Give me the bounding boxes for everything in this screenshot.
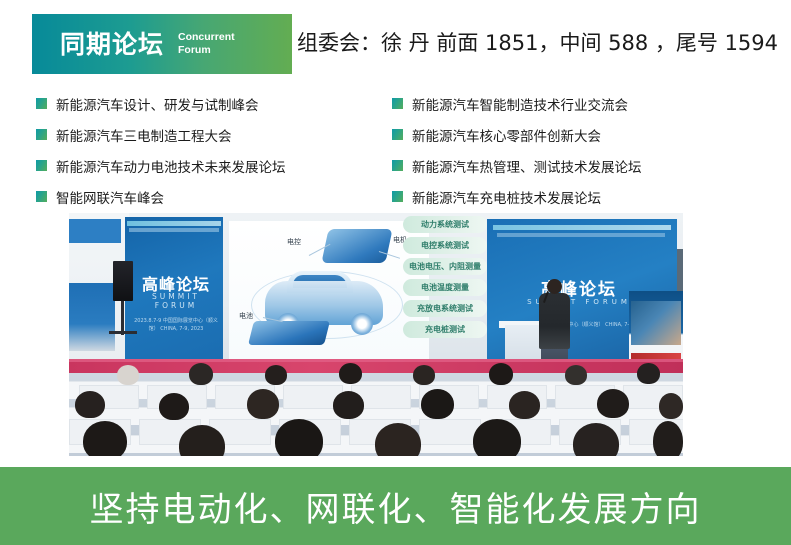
test-item-pill: 电控系统测试 [403,237,487,254]
diagram-label-controller: 电控 [287,237,301,247]
test-item-pill: 充电桩测试 [403,321,487,338]
forum-list-item: 新能源汽车核心零部件创新大会 [392,119,692,150]
loudspeaker-stand [121,301,124,335]
audience-head [189,363,213,385]
audience-head [265,365,287,385]
forum-list-item: 智能网联汽车峰会 [36,181,376,212]
forum-item-label: 新能源汽车核心零部件创新大会 [412,125,601,145]
stage-banner-left-subline-bar [129,228,219,232]
loudspeaker-legs [109,331,137,334]
stage-banner-right-headline-bar [493,225,671,230]
stage-banner-right-subline-bar [497,233,665,237]
bullet-square-icon [392,160,403,171]
forum-list-item: 新能源汽车动力电池技术未来发展论坛 [36,150,376,181]
chair-back [419,419,481,445]
header-subtitle-line2: Forum [178,44,235,57]
forum-list-item: 新能源汽车三电制造工程大会 [36,119,376,150]
audience-head [653,421,683,456]
audience-head [333,391,364,419]
test-item-list: 动力系统测试 电控系统测试 电池电压、内阻测量 电池温度测量 充放电系统测试 充… [403,216,487,342]
footer-banner: 坚持电动化、网联化、智能化发展方向 [0,467,791,545]
footer-slogan: 坚持电动化、网联化、智能化发展方向 [90,482,702,531]
slide-canvas: 同期论坛 Concurrent Forum 组委会：徐 丹 前面 1851，中间… [0,0,791,545]
bullet-square-icon [36,160,47,171]
header-banner-subtitle: Concurrent Forum [178,31,235,57]
presenter-head [547,279,562,294]
audience-head [159,393,189,420]
audience-head [413,365,435,385]
forum-list-left: 新能源汽车设计、研发与试制峰会 新能源汽车三电制造工程大会 新能源汽车动力电池技… [36,88,376,212]
forum-item-label: 新能源汽车智能制造技术行业交流会 [412,94,628,114]
forum-item-label: 新能源汽车充电桩技术发展论坛 [412,187,601,207]
car-wheel-rear [351,313,373,335]
bullet-square-icon [36,129,47,140]
left-booth-blue-band [69,219,121,243]
forum-list-item: 新能源汽车热管理、测试技术发展论坛 [392,150,692,181]
audience-head [473,419,521,456]
test-item-pill: 电池电压、内阻测量 [403,258,487,275]
test-item-pill: 充放电系统测试 [403,300,487,317]
test-item-pill: 电池温度测量 [403,279,487,296]
stage-banner-left-subtitle: SUMMIT FORUM [131,292,221,310]
rollup-banner-image [631,301,681,345]
audience-head [659,393,683,419]
header-banner: 同期论坛 Concurrent Forum [32,14,292,74]
organizer-contact-line: 组委会：徐 丹 前面 1851，中间 588 ，尾号 1594 [297,27,778,57]
audience-head [83,421,127,456]
audience-head [421,389,454,419]
bullet-square-icon [392,191,403,202]
stage-front-highlight [69,359,683,362]
audience-head [339,363,362,384]
bullet-square-icon [392,98,403,109]
audience-head [637,363,660,384]
left-booth-poster [69,283,115,351]
audience-head [275,419,323,456]
forum-item-label: 新能源汽车动力电池技术未来发展论坛 [56,156,286,176]
forum-item-label: 新能源汽车热管理、测试技术发展论坛 [412,156,642,176]
diagram-label-battery: 电池 [239,311,253,321]
forum-list-item: 新能源汽车充电桩技术发展论坛 [392,181,692,212]
bullet-square-icon [36,191,47,202]
audience-head [509,391,540,419]
forum-list-item: 新能源汽车设计、研发与试制峰会 [36,88,376,119]
battery-pack-component [248,321,330,345]
audience-head [565,365,587,385]
loudspeaker [113,261,133,301]
audience-head [117,365,139,385]
forum-item-label: 新能源汽车设计、研发与试制峰会 [56,94,259,114]
audience-head [75,391,105,418]
bullet-square-icon [36,98,47,109]
stage-banner-left-date: 2023.8.7-9 中国国际展览中心（顺义馆） CHINA, 7-9, 202… [131,318,221,333]
forum-item-label: 智能网联汽车峰会 [56,187,164,207]
forum-list-item: 新能源汽车智能制造技术行业交流会 [392,88,692,119]
test-item-pill: 动力系统测试 [403,216,487,233]
motor-component [321,229,392,263]
audience-head [247,389,279,419]
stage-banner-left-headline-bar [127,221,221,226]
bullet-square-icon [392,129,403,140]
conference-photo: 高峰论坛 SUMMIT FORUM 2023.8.7-9 中国国际展览中心（顺义… [69,213,683,456]
audience-head [597,389,629,418]
header-banner-title: 同期论坛 [60,32,164,57]
forum-item-label: 新能源汽车三电制造工程大会 [56,125,232,145]
audience-head [489,363,513,385]
ev-diagram-panel: 电机 电控 电池 [229,221,429,361]
forum-list-right: 新能源汽车智能制造技术行业交流会 新能源汽车核心零部件创新大会 新能源汽车热管理… [392,88,692,212]
header-subtitle-line1: Concurrent [178,31,235,44]
